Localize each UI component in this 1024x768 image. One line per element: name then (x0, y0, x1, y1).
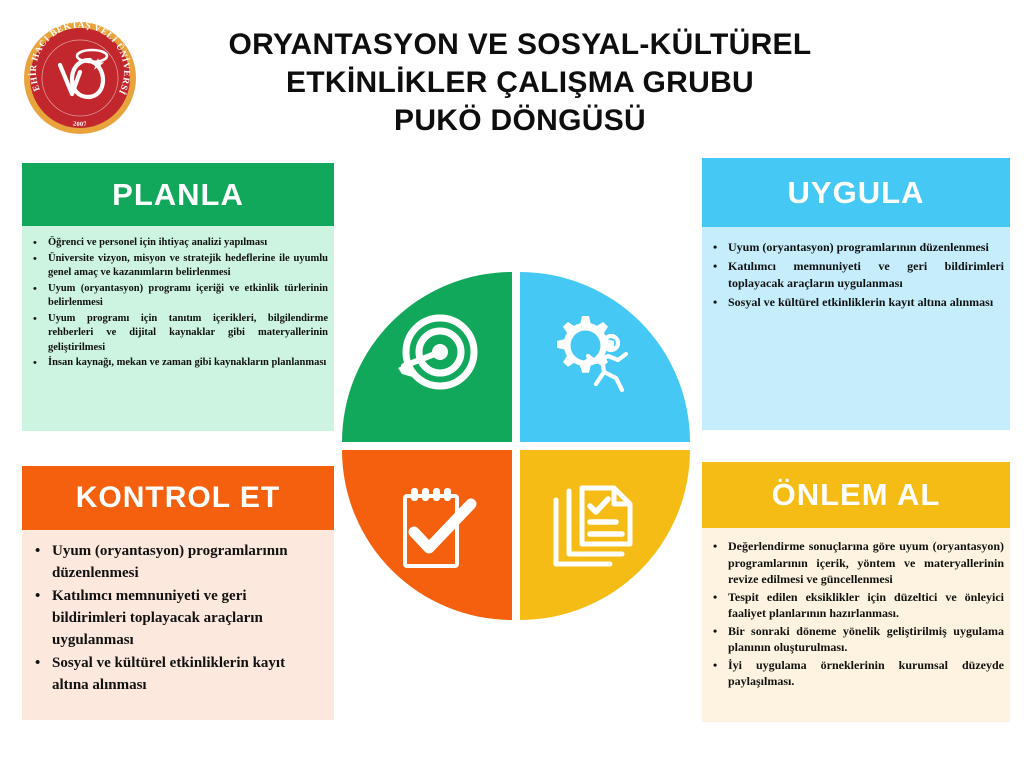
page-header: NEVŞEHİR HACI BEKTAŞ VELİ ÜNİVERSİTESİ 2… (0, 0, 1024, 155)
wheel-quadrant-check (342, 450, 512, 620)
university-seal-logo: NEVŞEHİR HACI BEKTAŞ VELİ ÜNİVERSİTESİ 2… (22, 20, 138, 136)
title-line-2: ETKİNLİKLER ÇALIŞMA GRUBU (150, 64, 890, 102)
list-item: Katılımcı memnuniyeti ve geri bildirimle… (728, 258, 1004, 292)
wheel-quadrant-plan (342, 272, 512, 442)
target-arrow-icon (388, 308, 484, 404)
panel-kontrol-et-list: Uyum (oryantasyon) programlarının düzenl… (22, 540, 334, 696)
title-line-3: PUKÖ DÖNGÜSÜ (150, 102, 890, 140)
panel-planla-body: Öğrenci ve personel için ihtiyaç analizi… (22, 226, 334, 431)
panel-kontrol-et-body: Uyum (oryantasyon) programlarının düzenl… (22, 530, 334, 720)
list-item: İnsan kaynağı, mekan ve zaman gibi kayna… (48, 356, 328, 371)
list-item: Tespit edilen eksiklikler için düzeltici… (728, 589, 1004, 622)
list-item: Uyum (oryantasyon) programlarının düzenl… (52, 540, 322, 584)
list-item: Uyum (oryantasyon) programı içeriği ve e… (48, 282, 328, 311)
panel-uygula-body: Uyum (oryantasyon) programlarının düzenl… (702, 227, 1010, 430)
panel-onlem-al: ÖNLEM AL Değerlendirme sonuçlarına göre … (702, 462, 1010, 722)
panel-onlem-al-title: ÖNLEM AL (702, 462, 1010, 528)
list-item: Sosyal ve kültürel etkinliklerin kayıt a… (52, 652, 322, 696)
puko-cycle-wheel (342, 272, 690, 620)
panel-uygula: UYGULA Uyum (oryantasyon) programlarının… (702, 158, 1010, 430)
list-item: Üniversite vizyon, misyon ve stratejik h… (48, 252, 328, 281)
list-item: Öğrenci ve personel için ihtiyaç analizi… (48, 236, 328, 251)
document-checklist-icon (546, 482, 642, 578)
page-title: ORYANTASYON VE SOSYAL-KÜLTÜREL ETKİNLİKL… (150, 26, 890, 140)
list-item: İyi uygulama örneklerinin kurumsal düzey… (728, 657, 1004, 690)
list-item: Değerlendirme sonuçlarına göre uyum (ory… (728, 538, 1004, 588)
panel-kontrol-et: KONTROL ET Uyum (oryantasyon) programlar… (22, 466, 334, 720)
panel-onlem-al-body: Değerlendirme sonuçlarına göre uyum (ory… (702, 528, 1010, 722)
panel-planla: PLANLA Öğrenci ve personel için ihtiyaç … (22, 163, 334, 431)
notepad-checkmark-icon (388, 482, 484, 578)
panel-uygula-list: Uyum (oryantasyon) programlarının düzenl… (702, 239, 1010, 311)
panel-onlem-al-list: Değerlendirme sonuçlarına göre uyum (ory… (702, 538, 1010, 690)
title-line-1: ORYANTASYON VE SOSYAL-KÜLTÜREL (150, 26, 890, 64)
list-item: Katılımcı memnuniyeti ve geri bildirimle… (52, 585, 322, 651)
list-item: Sosyal ve kültürel etkinliklerin kayıt a… (728, 294, 1004, 311)
wheel-quadrant-do (520, 272, 690, 442)
svg-text:2007: 2007 (72, 120, 88, 128)
list-item: Uyum (oryantasyon) programlarının düzenl… (728, 239, 1004, 256)
wheel-quadrant-act (520, 450, 690, 620)
list-item: Bir sonraki döneme yönelik geliştirilmiş… (728, 623, 1004, 656)
panel-uygula-title: UYGULA (702, 158, 1010, 227)
list-item: Uyum programı için tanıtım içerikleri, b… (48, 312, 328, 356)
gear-running-person-icon (546, 308, 642, 404)
panel-kontrol-et-title: KONTROL ET (22, 466, 334, 530)
panel-planla-list: Öğrenci ve personel için ihtiyaç analizi… (22, 236, 334, 371)
panel-planla-title: PLANLA (22, 163, 334, 226)
